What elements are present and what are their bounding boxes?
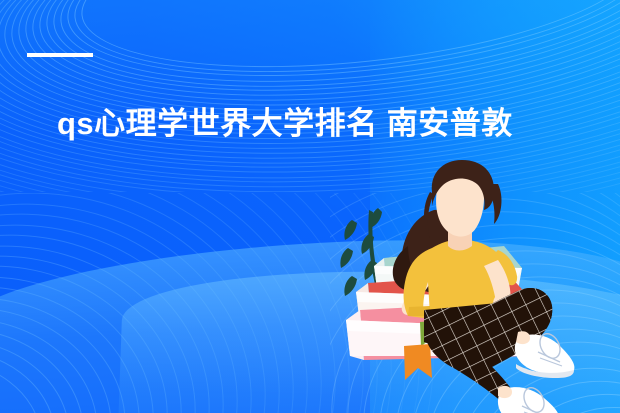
page-title: qs心理学世界大学排名 南安普敦 xyxy=(57,104,513,144)
article-cover-banner: qs心理学世界大学排名 南安普敦 xyxy=(0,0,620,413)
ankle-lower xyxy=(498,386,512,398)
bookmark-orange xyxy=(404,344,432,380)
illustration-woman-on-books xyxy=(312,150,620,413)
ankle-upper xyxy=(516,331,530,344)
accent-dash xyxy=(27,53,93,57)
